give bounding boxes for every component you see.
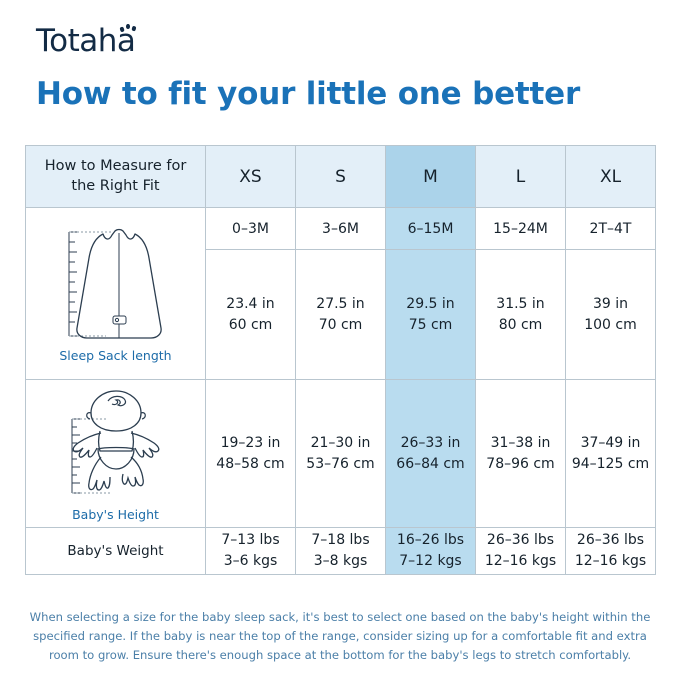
- table-row-babys-weight: Baby's Weight 7–13 lbs 3–6 kgs 7–18 lbs …: [26, 528, 656, 575]
- length-value-m-in: 29.5 in: [386, 294, 475, 315]
- weight-value-l: 26–36 lbs 12–16 kgs: [476, 528, 566, 575]
- weight-value-xs-lbs: 7–13 lbs: [206, 530, 295, 551]
- height-value-m: 26–33 in 66–84 cm: [386, 380, 476, 528]
- length-value-xs-cm: 60 cm: [206, 315, 295, 336]
- weight-value-s-kgs: 3–8 kgs: [296, 551, 385, 572]
- age-value-xs: 0–3M: [206, 208, 296, 250]
- page-title: How to fit your little one better: [36, 76, 580, 112]
- age-value-s: 3–6M: [296, 208, 386, 250]
- row-label-babys-weight: Baby's Weight: [26, 528, 206, 575]
- weight-value-xl: 26–36 lbs 12–16 kgs: [566, 528, 656, 575]
- length-value-xl-in: 39 in: [566, 294, 655, 315]
- length-value-xl-cm: 100 cm: [566, 315, 655, 336]
- age-value-l: 15–24M: [476, 208, 566, 250]
- sleep-sack-icon: [51, 224, 181, 344]
- height-value-xs-cm: 48–58 cm: [206, 454, 295, 475]
- row-label-sleep-sack-length-text: Sleep Sack length: [59, 348, 171, 363]
- height-value-xl-cm: 94–125 cm: [566, 454, 655, 475]
- weight-value-m-kgs: 7–12 kgs: [386, 551, 475, 572]
- height-value-s-cm: 53–76 cm: [296, 454, 385, 475]
- weight-value-m: 16–26 lbs 7–12 kgs: [386, 528, 476, 575]
- row-label-sleep-sack-length: Sleep Sack length: [26, 208, 206, 380]
- brand-logo: Totaha: [36, 26, 135, 57]
- length-value-xl: 39 in 100 cm: [566, 250, 656, 380]
- length-value-m-cm: 75 cm: [386, 315, 475, 336]
- size-header-m: M: [386, 146, 476, 208]
- row-label-babys-height: Baby's Height: [26, 380, 206, 528]
- weight-value-xs-kgs: 3–6 kgs: [206, 551, 295, 572]
- length-value-s-cm: 70 cm: [296, 315, 385, 336]
- length-value-s: 27.5 in 70 cm: [296, 250, 386, 380]
- weight-value-xl-kgs: 12–16 kgs: [566, 551, 655, 572]
- weight-value-m-lbs: 16–26 lbs: [386, 530, 475, 551]
- table-header-row: How to Measure for the Right Fit XS S M …: [26, 146, 656, 208]
- height-value-xs-in: 19–23 in: [206, 433, 295, 454]
- length-value-xs-in: 23.4 in: [206, 294, 295, 315]
- height-value-l-in: 31–38 in: [476, 433, 565, 454]
- size-header-xl: XL: [566, 146, 656, 208]
- length-value-l-in: 31.5 in: [476, 294, 565, 315]
- row-label-babys-height-text: Baby's Height: [72, 507, 159, 522]
- height-value-s: 21–30 in 53–76 cm: [296, 380, 386, 528]
- table-row-age: Sleep Sack length 0–3M 3–6M 6–15M 15–24M…: [26, 208, 656, 250]
- height-value-xl: 37–49 in 94–125 cm: [566, 380, 656, 528]
- height-value-m-cm: 66–84 cm: [386, 454, 475, 475]
- length-value-m: 29.5 in 75 cm: [386, 250, 476, 380]
- size-header-l: L: [476, 146, 566, 208]
- length-value-s-in: 27.5 in: [296, 294, 385, 315]
- size-header-s: S: [296, 146, 386, 208]
- size-chart-table-wrapper: How to Measure for the Right Fit XS S M …: [25, 145, 655, 575]
- weight-value-s: 7–18 lbs 3–8 kgs: [296, 528, 386, 575]
- size-chart-table: How to Measure for the Right Fit XS S M …: [25, 145, 656, 575]
- size-header-xs: XS: [206, 146, 296, 208]
- weight-value-xs: 7–13 lbs 3–6 kgs: [206, 528, 296, 575]
- age-value-m: 6–15M: [386, 208, 476, 250]
- weight-value-xl-lbs: 26–36 lbs: [566, 530, 655, 551]
- height-value-xs: 19–23 in 48–58 cm: [206, 380, 296, 528]
- height-value-m-in: 26–33 in: [386, 433, 475, 454]
- height-value-s-in: 21–30 in: [296, 433, 385, 454]
- age-value-xl: 2T–4T: [566, 208, 656, 250]
- weight-value-l-kgs: 12–16 kgs: [476, 551, 565, 572]
- table-corner-label: How to Measure for the Right Fit: [26, 146, 206, 208]
- weight-value-s-lbs: 7–18 lbs: [296, 530, 385, 551]
- table-row-babys-height: Baby's Height 19–23 in 48–58 cm 21–30 in…: [26, 380, 656, 528]
- length-value-l: 31.5 in 80 cm: [476, 250, 566, 380]
- sizing-note: When selecting a size for the baby sleep…: [25, 608, 655, 665]
- weight-value-l-lbs: 26–36 lbs: [476, 530, 565, 551]
- height-value-xl-in: 37–49 in: [566, 433, 655, 454]
- length-value-l-cm: 80 cm: [476, 315, 565, 336]
- size-chart-page: Totaha How to fit your little one better…: [0, 0, 679, 679]
- length-value-xs: 23.4 in 60 cm: [206, 250, 296, 380]
- baby-icon: [46, 385, 186, 503]
- height-value-l-cm: 78–96 cm: [476, 454, 565, 475]
- height-value-l: 31–38 in 78–96 cm: [476, 380, 566, 528]
